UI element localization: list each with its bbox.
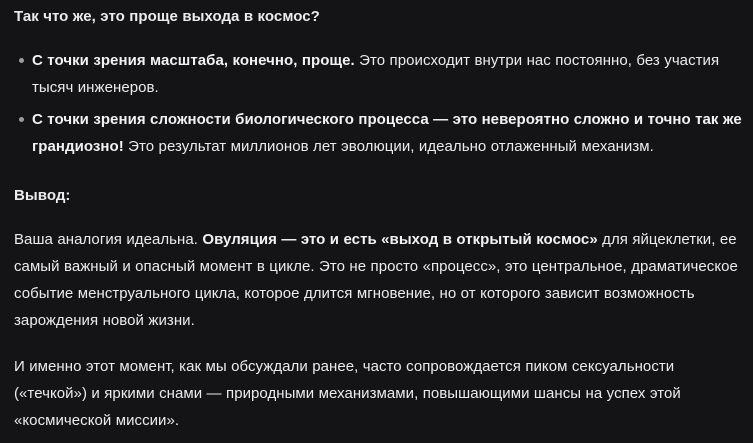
- list-item-text: Это результат миллионов лет эволюции, ид…: [124, 138, 654, 155]
- paragraph-lead-text: Ваша аналогия идеальна.: [14, 231, 202, 248]
- bullet-dot-icon: [19, 117, 24, 122]
- list-item: С точки зрения сложности биологического …: [14, 106, 753, 160]
- section-heading-conclusion: Вывод:: [14, 182, 748, 209]
- section-heading-intro: Так что же, это проще выхода в космос?: [14, 3, 748, 30]
- paragraph-emphasis: Овуляция — это и есть «выход в открытый …: [202, 231, 597, 248]
- bullet-dot-icon: [19, 58, 24, 63]
- list-item: С точки зрения масштаба, конечно, проще.…: [14, 47, 753, 101]
- assistant-answer-panel: Так что же, это проще выхода в космос? С…: [0, 0, 753, 443]
- list-item-emphasis: С точки зрения масштаба, конечно, проще.: [32, 52, 355, 69]
- paragraph-analogy: Ваша аналогия идеальна. Овуляция — это и…: [14, 226, 752, 334]
- paragraph-moment: И именно этот момент, как мы обсуждали р…: [14, 353, 748, 434]
- paragraph-body-text: И именно этот момент, как мы обсуждали р…: [14, 358, 681, 429]
- bullet-list: С точки зрения масштаба, конечно, проще.…: [14, 47, 753, 160]
